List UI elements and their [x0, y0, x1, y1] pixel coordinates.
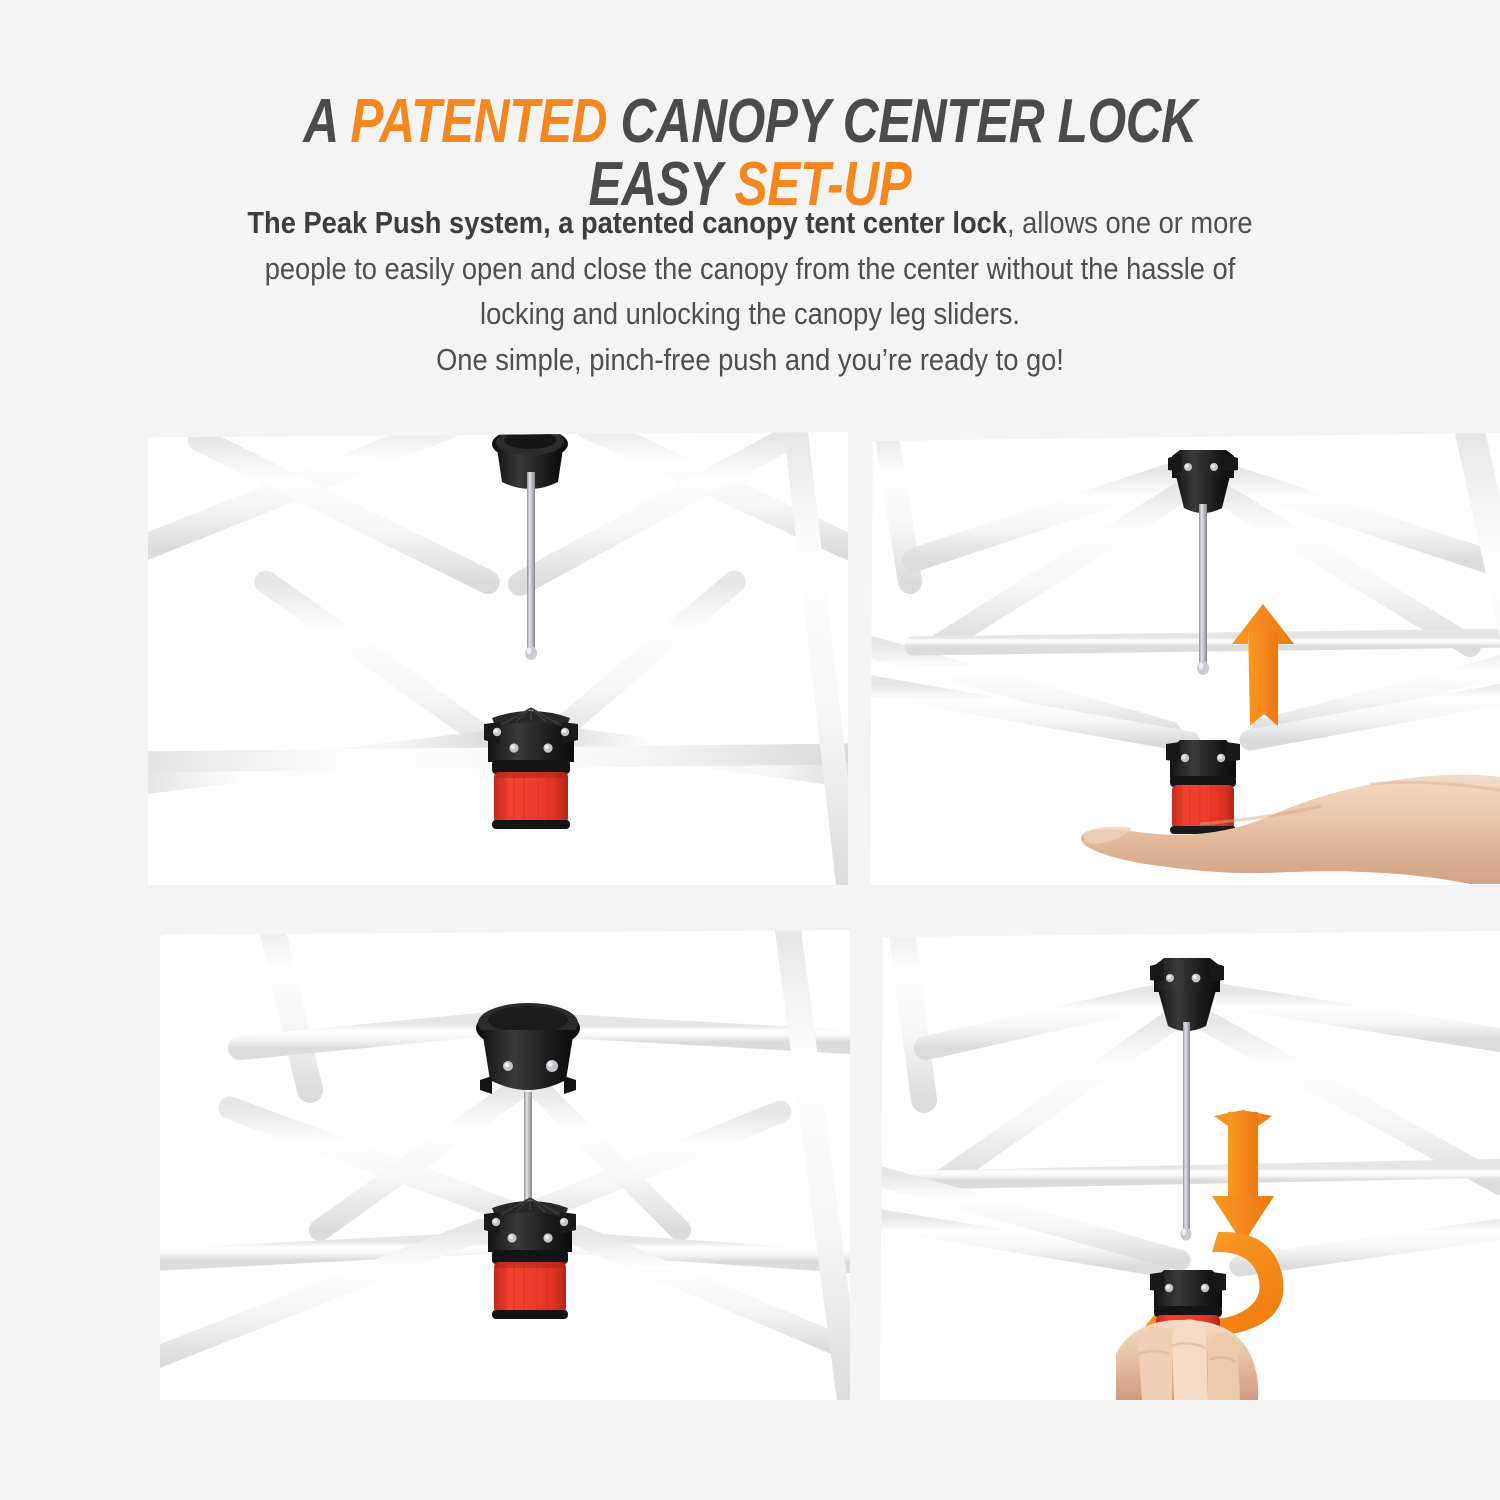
description-line-2: people to easily open and close the cano… — [90, 246, 1410, 292]
panel-pull-down-and-twist — [880, 930, 1500, 1400]
arrow-up-icon — [1232, 604, 1294, 726]
steel-push-rod — [524, 1092, 532, 1214]
promo-page: A PATENTED CANOPY CENTER LOCK EASY SET-U… — [0, 0, 1500, 1500]
hand-open-palm — [1081, 775, 1500, 884]
panel-push-up-with-hand — [870, 432, 1500, 885]
headline-line-1-part-2: CANOPY CENTER LOCK — [607, 87, 1197, 156]
headline-line-1-part-1: A — [303, 87, 350, 156]
headline-line-1: A PATENTED CANOPY CENTER LOCK — [150, 90, 1350, 154]
center-lock-hub — [484, 708, 578, 829]
center-lock-hub — [484, 1198, 576, 1319]
product-photo-grid — [0, 420, 1500, 1440]
description-paragraph: The Peak Push system, a patented canopy … — [90, 200, 1410, 382]
description-line-1: The Peak Push system, a patented canopy … — [90, 200, 1410, 246]
panel-unlocked-frame-closeup — [148, 432, 848, 885]
canopy-frame-tubes — [160, 930, 850, 1400]
steel-push-rod — [1181, 1022, 1192, 1241]
description-line-4: One simple, pinch-free push and you’re r… — [90, 337, 1410, 383]
description-lead-bold: The Peak Push system, a patented canopy … — [247, 205, 1007, 240]
peak-fitting-top — [476, 1003, 580, 1094]
panel-locked-frame-closeup — [160, 930, 850, 1400]
description-line-3: locking and unlocking the canopy leg sli… — [90, 291, 1410, 337]
headline-highlight-patented: PATENTED — [350, 87, 607, 156]
description-line-1-rest: , allows one or more — [1007, 205, 1253, 240]
page-title: A PATENTED CANOPY CENTER LOCK EASY SET-U… — [150, 90, 1350, 218]
